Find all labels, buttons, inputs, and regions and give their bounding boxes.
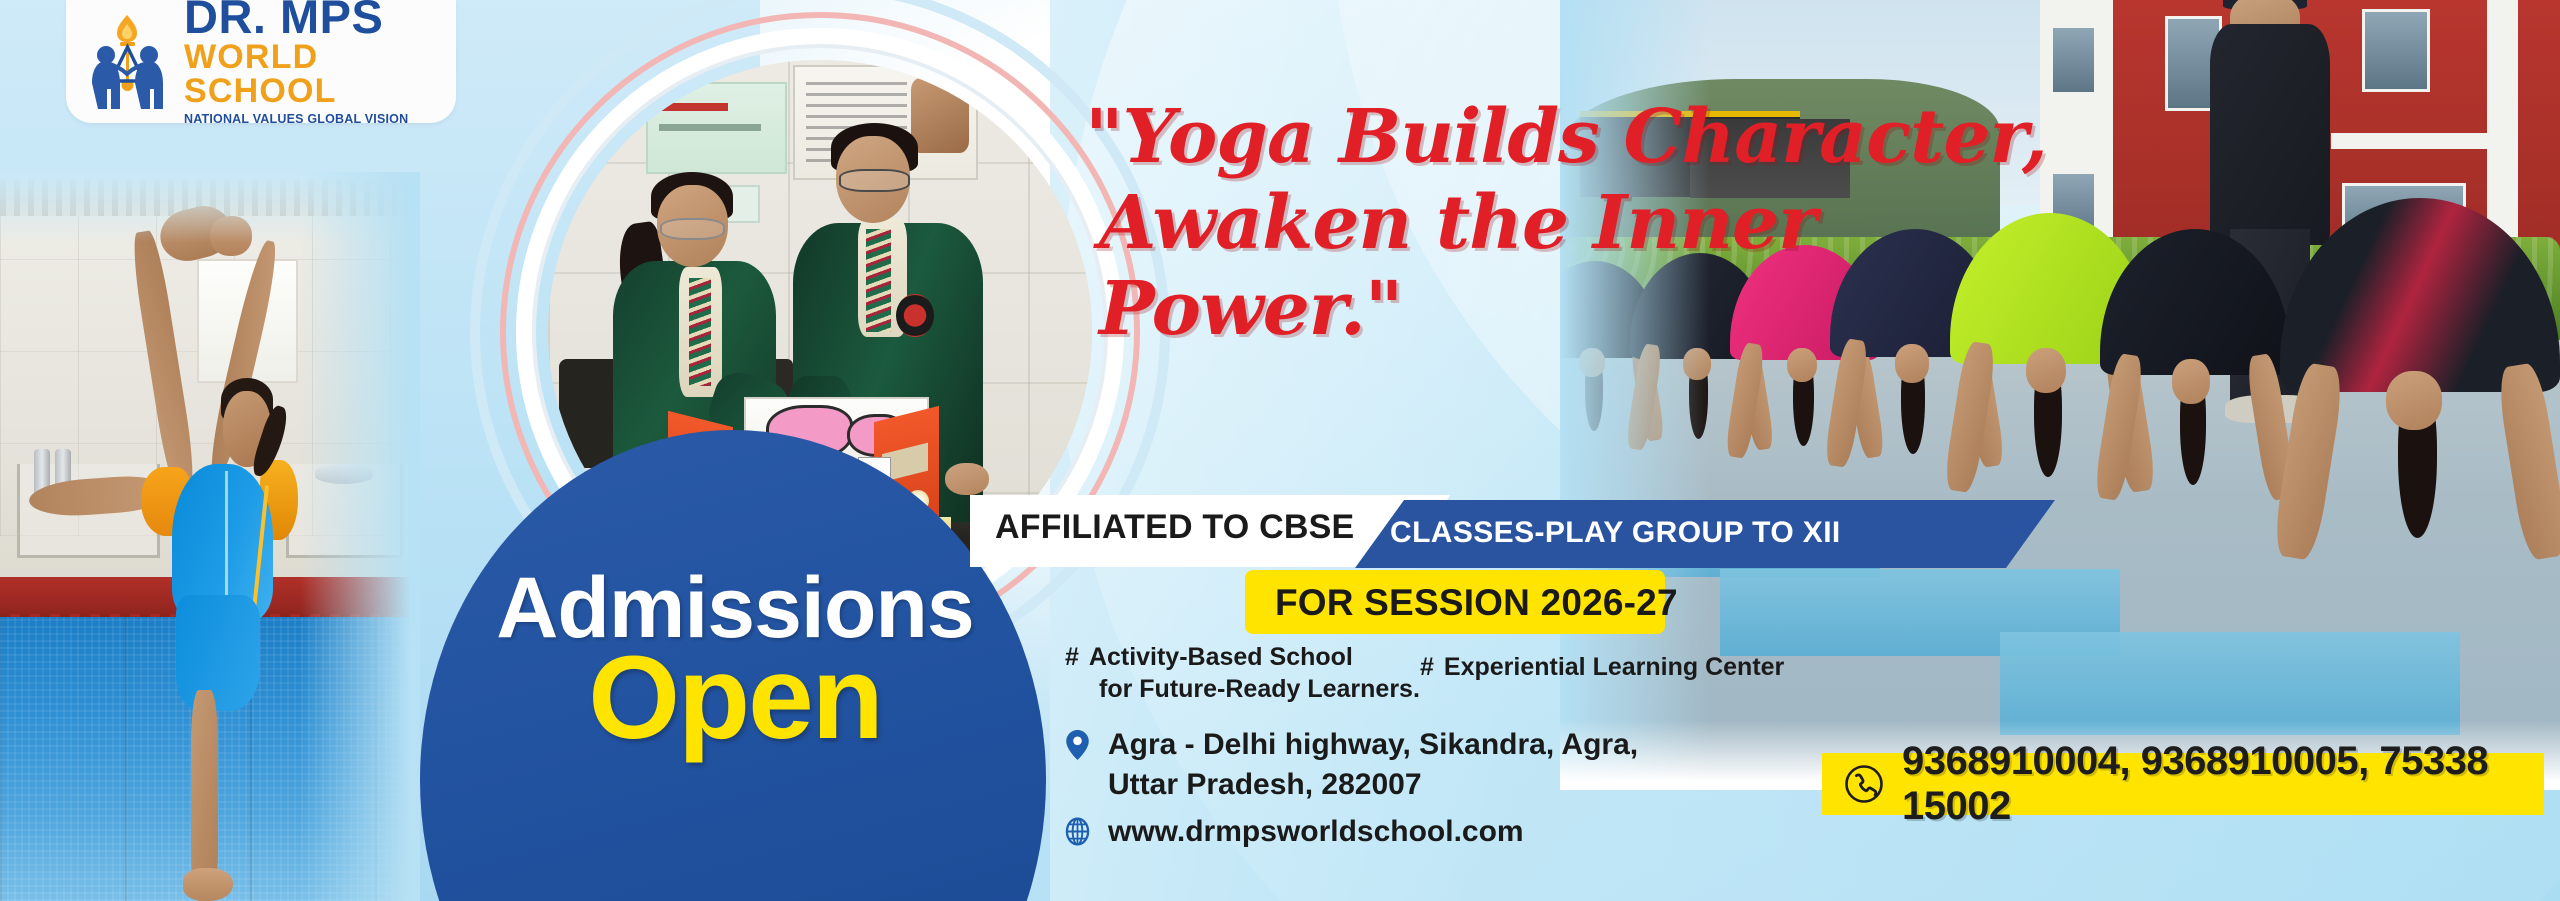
- phone-icon: [1844, 764, 1884, 804]
- address-row: Agra - Delhi highway, Sikandra, Agra, Ut…: [1062, 725, 1638, 804]
- quote-line-1: "Yoga Builds Character,: [1085, 95, 2105, 181]
- quote-line-2: Awaken the Inner Power.": [1085, 181, 2105, 353]
- school-logo[interactable]: DR. MPS WORLD SCHOOL NATIONAL VALUES GLO…: [66, 0, 456, 123]
- phone-numbers[interactable]: 9368910004, 9368910005, 75338 15002: [1902, 739, 2544, 829]
- feature-2-line-1: Experiential Learning Center: [1444, 653, 1784, 681]
- affiliated-to-cbse-label: AFFILIATED TO CBSE: [995, 508, 1354, 547]
- feature-1-line-2: for Future-Ready Learners.: [1065, 674, 1420, 706]
- admissions-banner: Admissions Open DR. MPS WORLD SCHOOL NAT: [0, 0, 2560, 901]
- phone-pill[interactable]: 9368910004, 9368910005, 75338 15002: [1822, 753, 2544, 815]
- website-row[interactable]: www.drmpsworldschool.com: [1062, 812, 1638, 852]
- classes-range-label: CLASSES-PLAY GROUP TO XII: [1390, 516, 1841, 550]
- address-line-2: Uttar Pradesh, 282007: [1108, 765, 1638, 805]
- session-label: FOR SESSION 2026-27: [1275, 582, 1678, 624]
- open-headline: Open: [455, 639, 1015, 757]
- contact-block: Agra - Delhi highway, Sikandra, Agra, Ut…: [1062, 725, 1638, 852]
- hash-bullet-icon: #: [1065, 643, 1079, 671]
- admissions-open-text-block: Admissions Open: [455, 565, 1015, 757]
- address-text: Agra - Delhi highway, Sikandra, Agra, Ut…: [1108, 725, 1638, 804]
- logo-line-2: WORLD SCHOOL: [184, 40, 440, 108]
- map-pin-icon: [1062, 725, 1092, 760]
- website-text[interactable]: www.drmpsworldschool.com: [1108, 812, 1524, 852]
- logo-line-1: DR. MPS: [184, 0, 440, 39]
- yoga-quote: "Yoga Builds Character, Awaken the Inner…: [1085, 95, 2105, 352]
- logo-tagline: NATIONAL VALUES GLOBAL VISION: [184, 112, 440, 126]
- address-line-1: Agra - Delhi highway, Sikandra, Agra,: [1108, 728, 1638, 761]
- feature-activity-based-school: #Activity-Based School for Future-Ready …: [1065, 642, 1420, 705]
- torch-with-people-icon: [84, 11, 170, 111]
- student-yoga-standing-split-photo: [0, 172, 420, 901]
- feature-experiential-learning-center: #Experiential Learning Center: [1420, 652, 1784, 684]
- feature-1-line-1: Activity-Based School: [1089, 643, 1353, 671]
- globe-icon: [1062, 812, 1092, 846]
- hash-bullet-icon: #: [1420, 653, 1434, 681]
